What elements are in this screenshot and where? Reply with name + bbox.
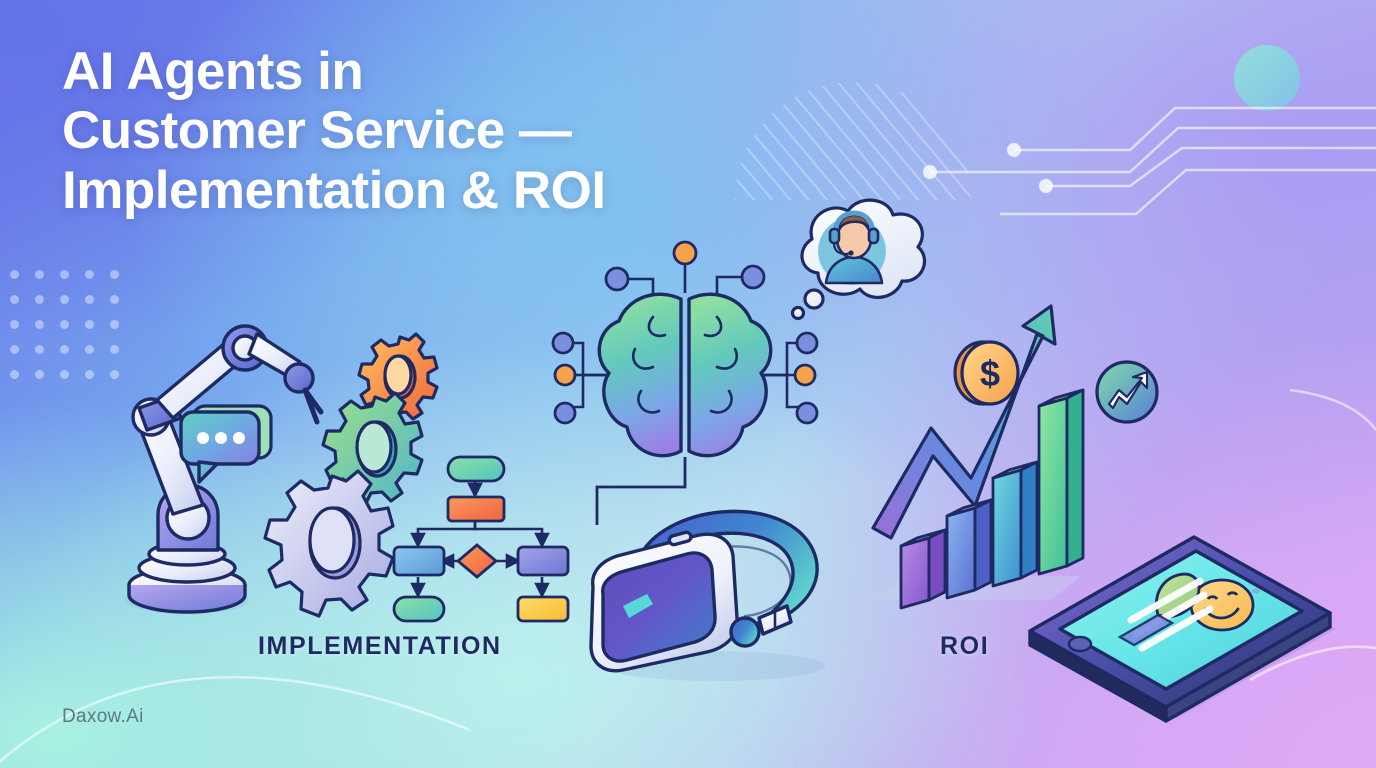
svg-text:$: $ [980,353,1000,394]
page-title: AI Agents in Customer Service — Implemen… [62,42,606,220]
caption-implementation: IMPLEMENTATION [258,632,502,661]
title-line-3: Implementation & ROI [62,161,606,220]
smartphone-chat-illustration [1018,495,1348,720]
title-line-1: AI Agents in [62,42,606,101]
title-line-2: Customer Service — [62,101,606,160]
flow-node-end-left [394,597,444,621]
flow-node-left [394,547,444,575]
vr-headset-illustration [575,490,855,685]
chat-bubble-icon [181,406,271,482]
flow-node-end-right [518,597,568,621]
trend-up-badge-icon [1085,350,1170,435]
dollar-coin-icon: $ [945,330,1030,415]
flow-node-process [448,497,504,521]
brain-shape [599,294,770,455]
brand-watermark: Daxow.Ai [62,706,144,728]
flow-node-right [518,547,568,575]
bar-1 [901,530,945,608]
caption-roi: ROI [940,632,989,661]
flow-node-decision [458,545,496,577]
bar-2 [947,500,991,598]
flow-node-start [448,457,504,481]
banner-canvas: AI Agents in Customer Service — Implemen… [0,0,1376,768]
